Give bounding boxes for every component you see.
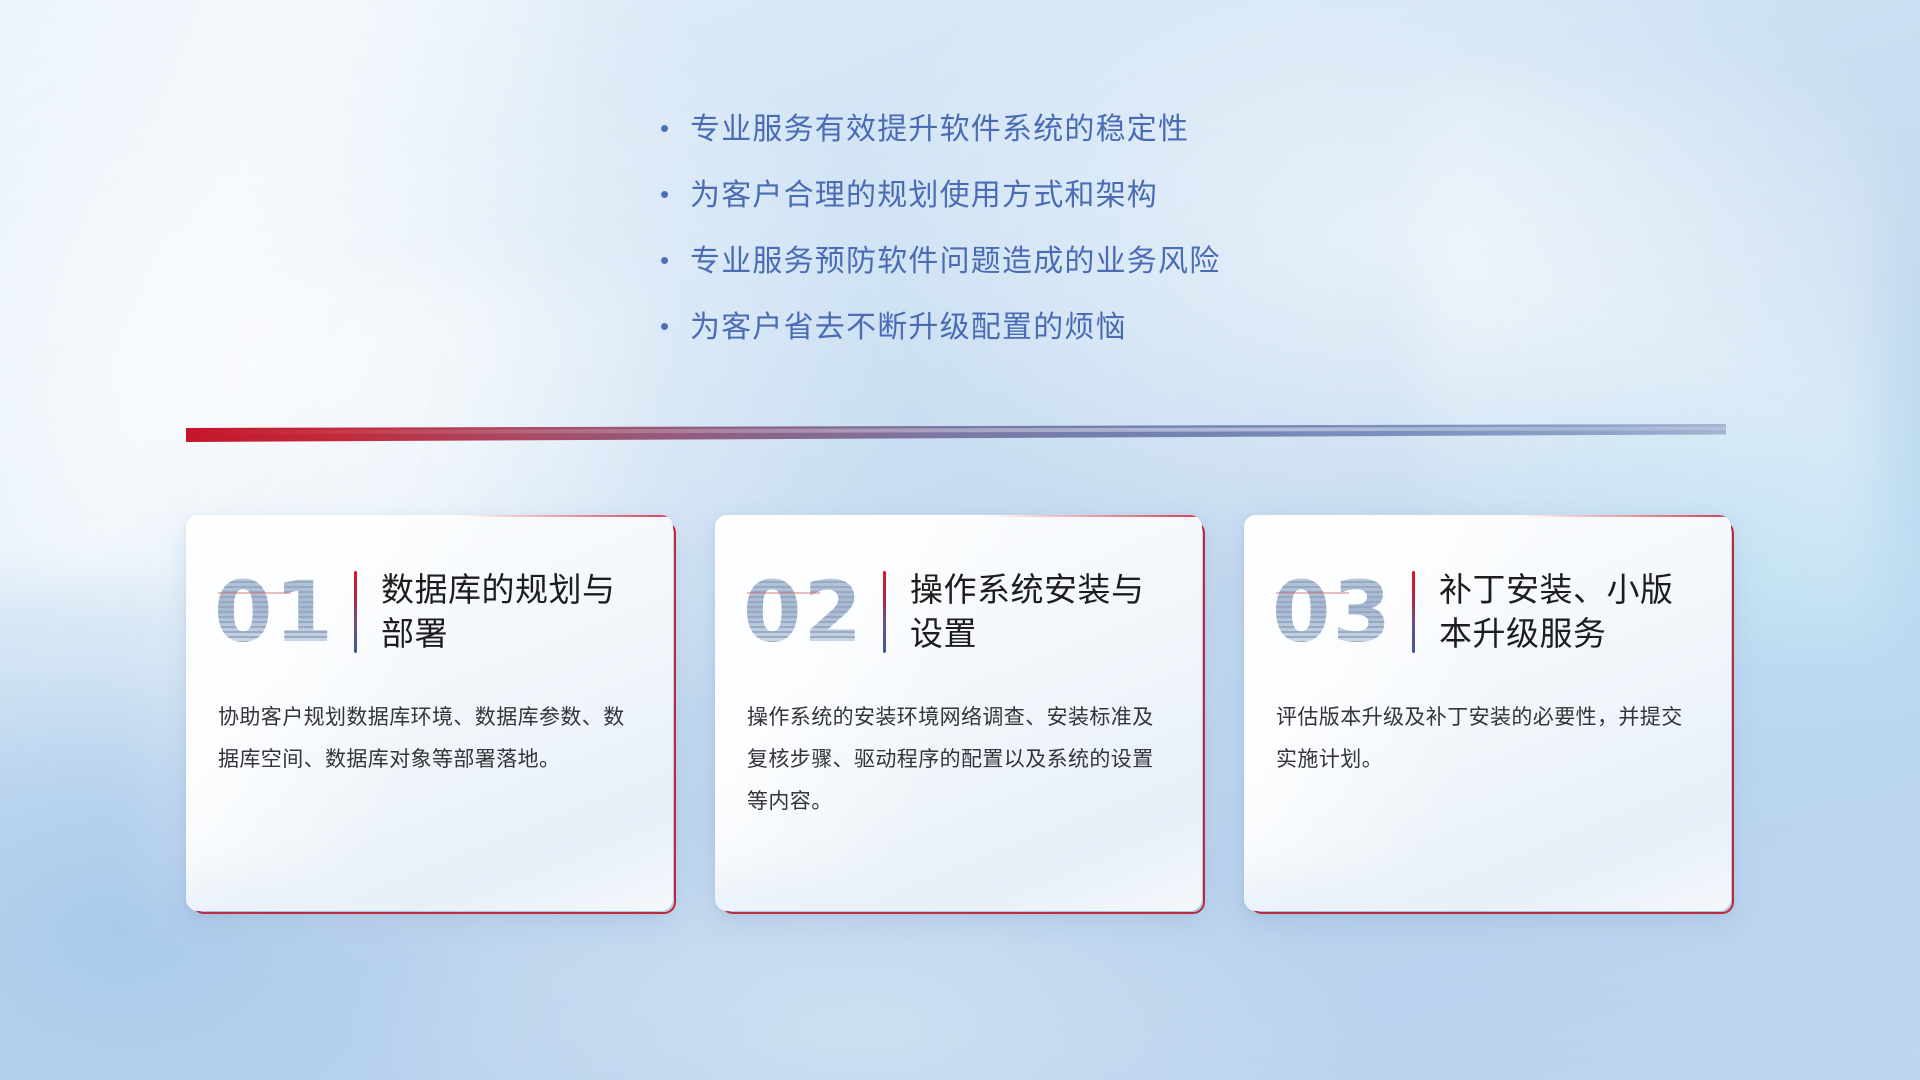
section-divider	[186, 424, 1726, 442]
card-body-text: 评估版本升级及补丁安装的必要性，并提交实施计划。	[1244, 675, 1731, 781]
card-header: 02 操作系统安装与设置	[715, 515, 1202, 675]
card-divider-bar	[883, 571, 886, 653]
benefits-bullet-list: • 专业服务有效提升软件系统的稳定性 • 为客户合理的规划使用方式和架构 • 专…	[660, 112, 1420, 376]
card-number-watermark: 02	[743, 566, 879, 658]
bullet-dot-icon: •	[660, 181, 690, 207]
card-surface: 01 数据库的规划与部署 协助客户规划数据库环境、数据库参数、数据库空间、数据库…	[186, 515, 673, 911]
card-body-text: 协助客户规划数据库环境、数据库参数、数据库空间、数据库对象等部署落地。	[186, 675, 673, 781]
list-item: • 为客户合理的规划使用方式和架构	[660, 178, 1420, 214]
bullet-text: 为客户省去不断升级配置的烦恼	[690, 310, 1127, 346]
bullet-dot-icon: •	[660, 115, 690, 141]
list-item: • 专业服务有效提升软件系统的稳定性	[660, 112, 1420, 148]
card-body-text: 操作系统的安装环境网络调查、安装标准及复核步骤、驱动程序的配置以及系统的设置等内…	[715, 675, 1202, 823]
bullet-text: 专业服务有效提升软件系统的稳定性	[690, 112, 1189, 148]
service-card[interactable]: 02 操作系统安装与设置 操作系统的安装环境网络调查、安装标准及复核步骤、驱动程…	[715, 515, 1202, 911]
service-card[interactable]: 01 数据库的规划与部署 协助客户规划数据库环境、数据库参数、数据库空间、数据库…	[186, 515, 673, 911]
card-header: 01 数据库的规划与部署	[186, 515, 673, 675]
bullet-text: 专业服务预防软件问题造成的业务风险	[690, 244, 1220, 280]
card-number-watermark: 01	[214, 566, 350, 658]
list-item: • 为客户省去不断升级配置的烦恼	[660, 310, 1420, 346]
card-surface: 02 操作系统安装与设置 操作系统的安装环境网络调查、安装标准及复核步骤、驱动程…	[715, 515, 1202, 911]
card-title: 补丁安装、小版本升级服务	[1439, 568, 1701, 655]
service-card[interactable]: 03 补丁安装、小版本升级服务 评估版本升级及补丁安装的必要性，并提交实施计划。	[1244, 515, 1731, 911]
bullet-dot-icon: •	[660, 247, 690, 273]
service-cards-row: 01 数据库的规划与部署 协助客户规划数据库环境、数据库参数、数据库空间、数据库…	[186, 515, 1731, 911]
card-number-watermark: 03	[1272, 566, 1408, 658]
card-title: 数据库的规划与部署	[381, 568, 643, 655]
card-surface: 03 补丁安装、小版本升级服务 评估版本升级及补丁安装的必要性，并提交实施计划。	[1244, 515, 1731, 911]
card-divider-bar	[1412, 571, 1415, 653]
card-header: 03 补丁安装、小版本升级服务	[1244, 515, 1731, 675]
bullet-dot-icon: •	[660, 313, 690, 339]
card-divider-bar	[354, 571, 357, 653]
bullet-text: 为客户合理的规划使用方式和架构	[690, 178, 1158, 214]
list-item: • 专业服务预防软件问题造成的业务风险	[660, 244, 1420, 280]
card-title: 操作系统安装与设置	[910, 568, 1172, 655]
